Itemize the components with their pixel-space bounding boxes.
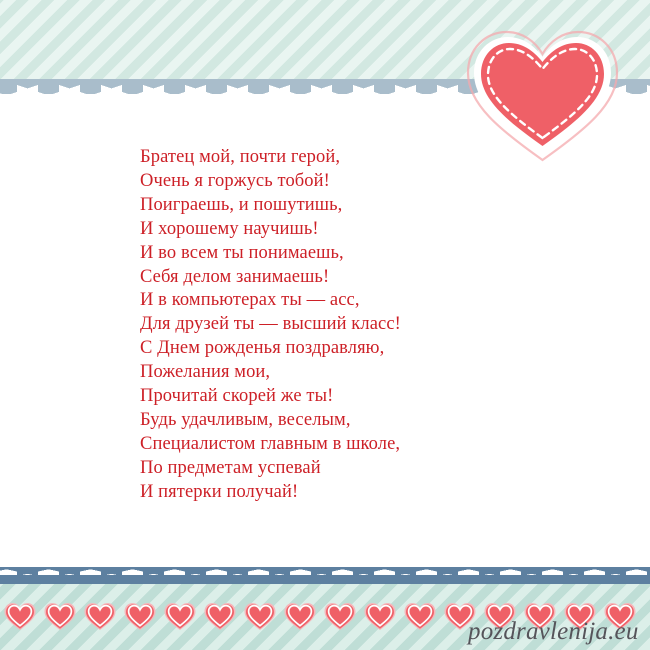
poem-line: Себя делом занимаешь! — [140, 266, 520, 290]
small-heart-icon — [323, 601, 357, 633]
poem-line: Специалистом главным в школе, — [140, 433, 520, 457]
small-heart-icon — [283, 601, 317, 633]
small-heart-icon — [363, 601, 397, 633]
poem-line: Будь удачливым, веселым, — [140, 409, 520, 433]
small-heart-icon — [83, 601, 117, 633]
large-heart-icon — [460, 18, 625, 166]
poem-line: Пожелания мои, — [140, 361, 520, 385]
poem-line: И хорошему научишь! — [140, 218, 520, 242]
greeting-card: Братец мой, почти герой, Очень я горжусь… — [0, 0, 650, 650]
poem-line: Очень я горжусь тобой! — [140, 170, 520, 194]
poem-line: И пятерки получай! — [140, 481, 520, 505]
poem-text-block: Братец мой, почти герой, Очень я горжусь… — [140, 146, 520, 505]
poem-line: И во всем ты понимаешь, — [140, 242, 520, 266]
small-heart-icon — [163, 601, 197, 633]
poem-line: По предметам успевай — [140, 457, 520, 481]
small-heart-icon — [43, 601, 77, 633]
watermark-text: pozdravlenija.eu — [468, 618, 639, 646]
small-heart-icon — [243, 601, 277, 633]
poem-line: И в компьютерах ты — асс, — [140, 289, 520, 313]
small-heart-icon — [403, 601, 437, 633]
poem-line: Прочитай скорей же ты! — [140, 385, 520, 409]
poem-line: С Днем рожденья поздравляю, — [140, 337, 520, 361]
small-heart-icon — [3, 601, 37, 633]
poem-line: Для друзей ты — высший класс! — [140, 313, 520, 337]
small-heart-icon — [123, 601, 157, 633]
poem-line: Поиграешь, и пошутишь, — [140, 194, 520, 218]
bottom-blue-bar — [0, 575, 650, 584]
small-heart-icon — [203, 601, 237, 633]
poem-line: Братец мой, почти герой, — [140, 146, 520, 170]
